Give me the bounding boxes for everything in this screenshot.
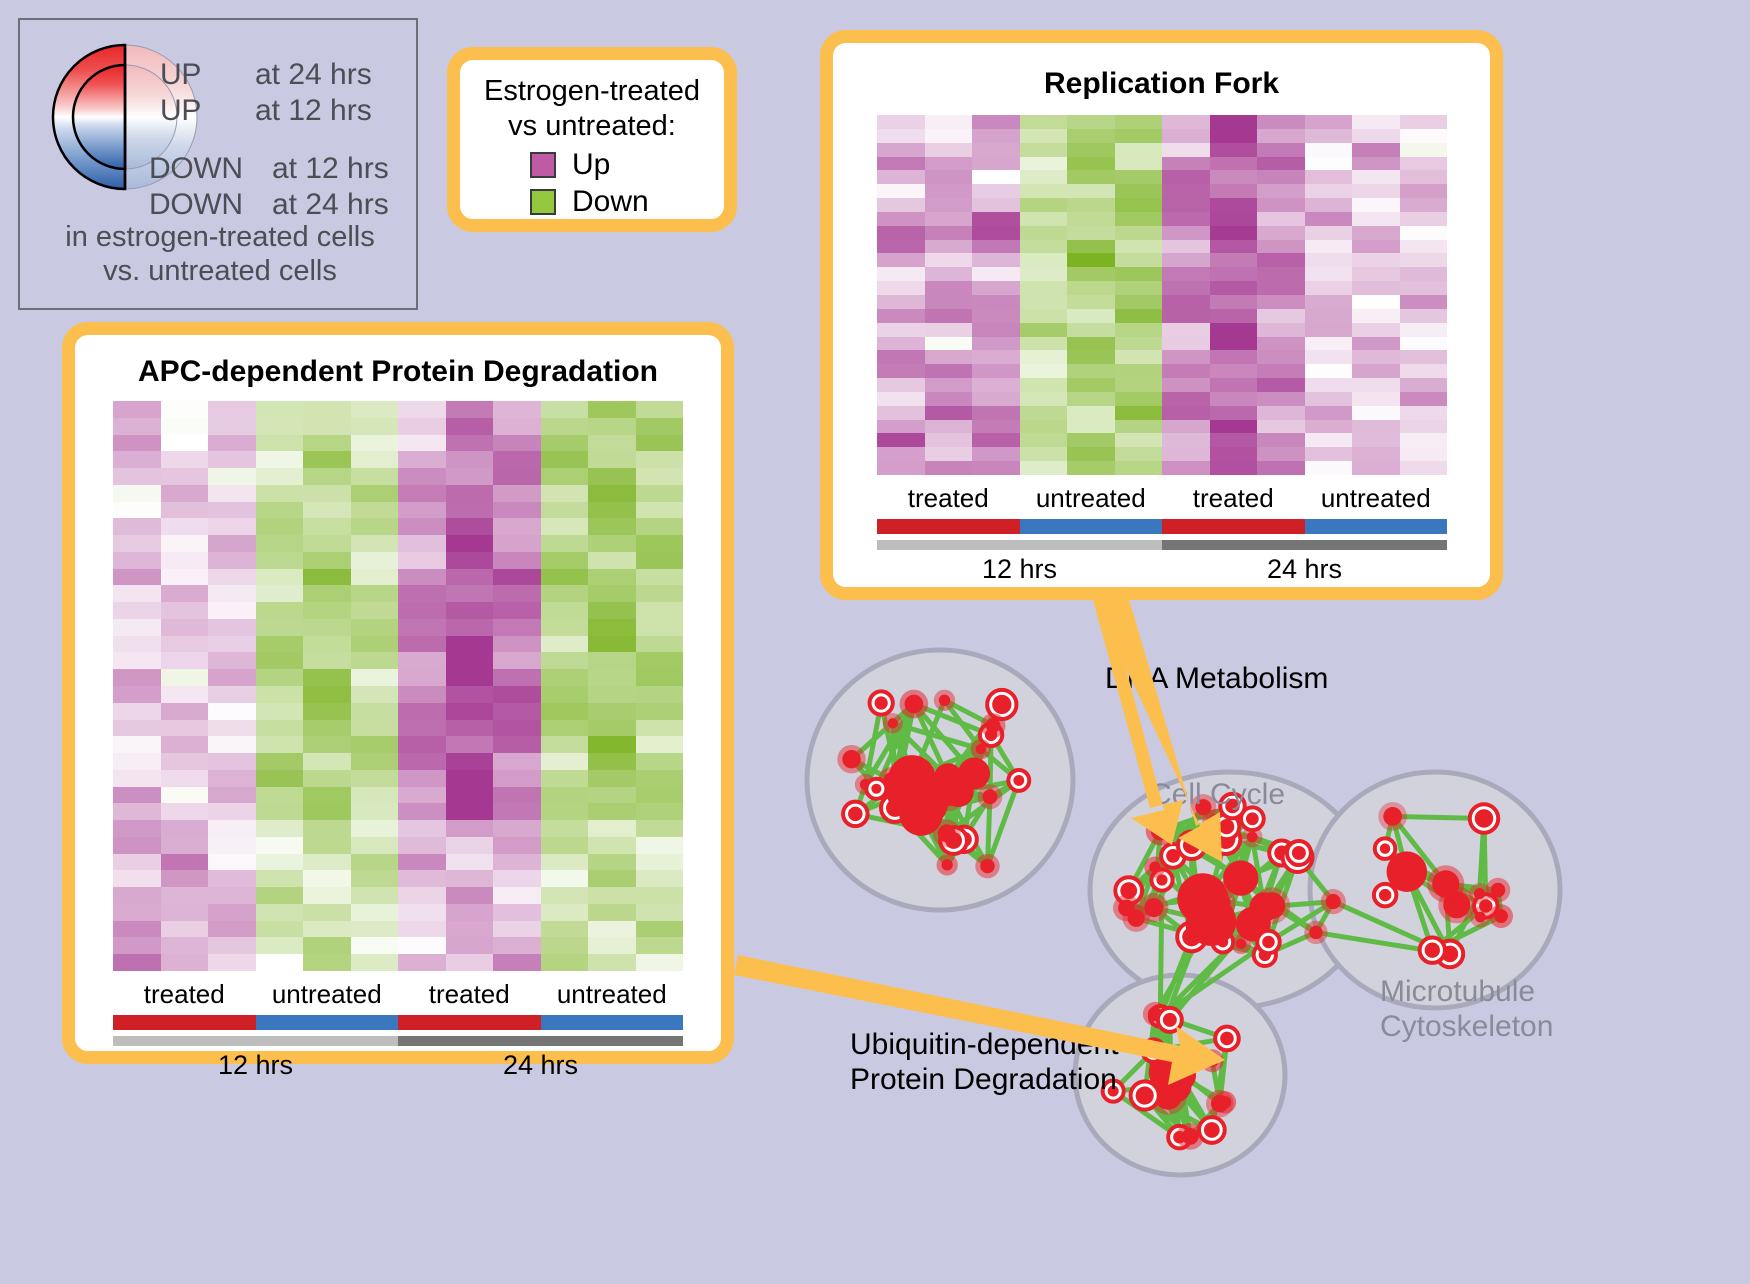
heatmap-cell bbox=[256, 887, 304, 904]
heatmap-cell bbox=[1305, 281, 1353, 295]
heatmap-cell bbox=[113, 787, 161, 804]
heatmap-cell bbox=[398, 787, 446, 804]
heatmap-cell bbox=[636, 401, 684, 418]
network-node[interactable] bbox=[1142, 1039, 1164, 1061]
heatmap-cell bbox=[256, 921, 304, 938]
heatmap-cell bbox=[1257, 253, 1305, 267]
heatmap-cell bbox=[1067, 281, 1115, 295]
network-node[interactable] bbox=[1146, 816, 1175, 845]
network-node[interactable] bbox=[975, 854, 999, 878]
heatmap-cell bbox=[446, 921, 494, 938]
heatmap-cell bbox=[1305, 295, 1353, 309]
heatmap-cell bbox=[303, 736, 351, 753]
network-node-core bbox=[1182, 1128, 1199, 1145]
heatmap-cell bbox=[1305, 420, 1353, 434]
heatmap-cell bbox=[1352, 392, 1400, 406]
heatmap-cell bbox=[1257, 198, 1305, 212]
heatmap-cell bbox=[1305, 350, 1353, 364]
network-diagram: DNA Metabolism Cell Cycle Microtubule Cy… bbox=[780, 600, 1740, 1279]
heatmap-cell bbox=[1210, 295, 1258, 309]
heatmap-cell bbox=[113, 887, 161, 904]
heatmap-cell bbox=[1210, 461, 1258, 475]
network-node-core bbox=[1326, 894, 1341, 909]
heatmap-cell bbox=[541, 753, 589, 770]
heatmap-cell bbox=[1162, 198, 1210, 212]
heatmap-cell bbox=[161, 703, 209, 720]
apc-time-labels: 12 hrs24 hrs bbox=[113, 1050, 683, 1081]
heatmap-cell bbox=[351, 518, 399, 535]
legend-item-down: Down bbox=[530, 185, 649, 219]
network-node-core bbox=[986, 718, 1001, 733]
key-direction-2: DOWN bbox=[149, 152, 243, 186]
heatmap-cell bbox=[113, 569, 161, 586]
network-node[interactable] bbox=[1199, 1117, 1225, 1143]
heatmap-cell bbox=[446, 669, 494, 686]
heatmap-cell bbox=[303, 686, 351, 703]
heatmap-cell bbox=[1305, 267, 1353, 281]
network-node[interactable] bbox=[870, 691, 893, 714]
heatmap-cell bbox=[1020, 170, 1068, 184]
heatmap-cell bbox=[398, 720, 446, 737]
heatmap-cell bbox=[1257, 184, 1305, 198]
key-direction-1: UP bbox=[160, 94, 201, 128]
heatmap-cell bbox=[256, 736, 304, 753]
heatmap-cell bbox=[541, 485, 589, 502]
heatmap-cell bbox=[256, 435, 304, 452]
heatmap-cell bbox=[1257, 392, 1305, 406]
legend-label-up: Up bbox=[572, 148, 610, 182]
heatmap-cell bbox=[1067, 226, 1115, 240]
legend-item-up: Up bbox=[530, 148, 610, 182]
network-node[interactable] bbox=[1304, 921, 1327, 944]
network-node[interactable] bbox=[1231, 934, 1251, 954]
heatmap-cell bbox=[256, 602, 304, 619]
heatmap-cell bbox=[113, 636, 161, 653]
network-node-core bbox=[939, 695, 950, 706]
heatmap-cell bbox=[1305, 392, 1353, 406]
heatmap-cell bbox=[493, 552, 541, 569]
network-node[interactable] bbox=[1178, 832, 1206, 860]
heatmap-cell bbox=[351, 569, 399, 586]
network-node-core bbox=[1147, 1044, 1159, 1056]
heatmap-cell bbox=[351, 602, 399, 619]
network-node[interactable] bbox=[1214, 1091, 1236, 1113]
heatmap-cell bbox=[1067, 406, 1115, 420]
heatmap-cell bbox=[446, 585, 494, 602]
heatmap-cell bbox=[972, 392, 1020, 406]
network-node[interactable] bbox=[1158, 1008, 1182, 1032]
heatmap-cell bbox=[636, 502, 684, 519]
color-key-footer-line1: in estrogen-treated cells bbox=[20, 220, 420, 254]
network-node[interactable] bbox=[843, 802, 868, 827]
heatmap-cell bbox=[161, 921, 209, 938]
heatmap-cell bbox=[877, 184, 925, 198]
heatmap-cell bbox=[972, 337, 1020, 351]
network-node[interactable] bbox=[1113, 895, 1140, 922]
heatmap-cell bbox=[1305, 337, 1353, 351]
heatmap-cell bbox=[1162, 143, 1210, 157]
heatmap-cell bbox=[208, 418, 256, 435]
heatmap-cell bbox=[493, 854, 541, 871]
heatmap-cell bbox=[588, 703, 636, 720]
replication-fork-group-bars bbox=[877, 519, 1447, 534]
heatmap-cell bbox=[493, 937, 541, 954]
heatmap-cell bbox=[1305, 143, 1353, 157]
heatmap-cell bbox=[303, 636, 351, 653]
network-node-core bbox=[1383, 807, 1402, 826]
heatmap-cell bbox=[1257, 281, 1305, 295]
heatmap-cell bbox=[588, 518, 636, 535]
heatmap-cell bbox=[1210, 253, 1258, 267]
heatmap-cell bbox=[351, 535, 399, 552]
heatmap-cell bbox=[925, 295, 973, 309]
heatmap-cell bbox=[636, 854, 684, 871]
heatmap-cell bbox=[1020, 309, 1068, 323]
heatmap-cell bbox=[1067, 267, 1115, 281]
group-bar-treated-0 bbox=[877, 519, 1020, 534]
network-node[interactable] bbox=[1249, 892, 1279, 922]
heatmap-cell bbox=[256, 753, 304, 770]
heatmap-cell bbox=[877, 115, 925, 129]
time-bar-12-hrs bbox=[113, 1036, 398, 1046]
network-node-core bbox=[1475, 912, 1486, 923]
heatmap-cell bbox=[972, 157, 1020, 171]
heatmap-cell bbox=[636, 602, 684, 619]
heatmap-cell bbox=[493, 569, 541, 586]
heatmap-cell bbox=[1210, 447, 1258, 461]
heatmap-cell bbox=[1115, 240, 1163, 254]
network-node[interactable] bbox=[978, 784, 1003, 809]
network-node[interactable] bbox=[1321, 889, 1346, 914]
network-node[interactable] bbox=[1489, 904, 1513, 928]
legend-title: Estrogen-treated vs untreated: bbox=[460, 74, 724, 144]
heatmap-cell bbox=[1067, 337, 1115, 351]
heatmap-cell bbox=[493, 954, 541, 971]
heatmap-cell bbox=[1115, 157, 1163, 171]
network-node-core bbox=[1136, 1086, 1154, 1104]
heatmap-cell bbox=[877, 364, 925, 378]
heatmap-cell bbox=[588, 937, 636, 954]
heatmap-cell bbox=[493, 401, 541, 418]
heatmap-cell bbox=[541, 619, 589, 636]
heatmap-cell bbox=[493, 585, 541, 602]
network-node-core bbox=[1292, 846, 1306, 860]
heatmap-cell bbox=[1400, 433, 1448, 447]
heatmap-cell bbox=[161, 619, 209, 636]
heatmap-cell bbox=[972, 364, 1020, 378]
heatmap-cell bbox=[1162, 337, 1210, 351]
heatmap-cell bbox=[1305, 461, 1353, 475]
heatmap-cell bbox=[1115, 392, 1163, 406]
heatmap-cell bbox=[1162, 309, 1210, 323]
network-node[interactable] bbox=[837, 745, 865, 773]
heatmap-cell bbox=[303, 669, 351, 686]
key-time-3: at 24 hrs bbox=[272, 188, 389, 222]
heatmap-cell bbox=[877, 267, 925, 281]
heatmap-cell bbox=[351, 921, 399, 938]
heatmap-cell bbox=[972, 447, 1020, 461]
network-node[interactable] bbox=[1287, 841, 1311, 865]
heatmap-cell bbox=[1020, 392, 1068, 406]
heatmap-cell bbox=[877, 392, 925, 406]
network-node[interactable] bbox=[933, 819, 961, 847]
legend-title-line2: vs untreated: bbox=[460, 109, 724, 144]
heatmap-cell bbox=[398, 937, 446, 954]
network-node[interactable] bbox=[1387, 851, 1428, 892]
heatmap-cell bbox=[398, 552, 446, 569]
heatmap-cell bbox=[1352, 253, 1400, 267]
heatmap-cell bbox=[1400, 392, 1448, 406]
network-node-core bbox=[1151, 821, 1170, 840]
heatmap-cell bbox=[446, 854, 494, 871]
cluster-label-ubiquitin: Ubiquitin-dependent Protein Degradation bbox=[850, 1028, 1119, 1097]
heatmap-cell bbox=[972, 226, 1020, 240]
heatmap-cell bbox=[208, 954, 256, 971]
heatmap-cell bbox=[636, 552, 684, 569]
heatmap-cell bbox=[493, 803, 541, 820]
heatmap-cell bbox=[588, 954, 636, 971]
heatmap-cell bbox=[877, 337, 925, 351]
heatmap-cell bbox=[493, 787, 541, 804]
heatmap-cell bbox=[1210, 184, 1258, 198]
heatmap-cell bbox=[1115, 378, 1163, 392]
group-label-untreated-1: untreated bbox=[256, 979, 399, 1010]
group-label-treated-2: treated bbox=[398, 979, 541, 1010]
time-label-12-hrs: 12 hrs bbox=[113, 1050, 398, 1081]
heatmap-cell bbox=[588, 904, 636, 921]
heatmap-cell bbox=[351, 870, 399, 887]
color-key-box: UP at 24 hrs UP at 12 hrs DOWN at 12 hrs… bbox=[18, 18, 418, 310]
heatmap-cell bbox=[113, 803, 161, 820]
network-node[interactable] bbox=[934, 690, 955, 711]
heatmap-cell bbox=[1400, 420, 1448, 434]
heatmap-cell bbox=[208, 451, 256, 468]
network-node-core bbox=[1387, 851, 1428, 892]
network-node[interactable] bbox=[1374, 884, 1396, 906]
heatmap-cell bbox=[1210, 226, 1258, 240]
heatmap-cell bbox=[398, 585, 446, 602]
network-node-core bbox=[1118, 900, 1135, 917]
network-node[interactable] bbox=[883, 713, 903, 733]
network-node-core bbox=[1262, 936, 1275, 949]
heatmap-cell bbox=[1162, 281, 1210, 295]
heatmap-cell bbox=[208, 736, 256, 753]
heatmap-cell bbox=[113, 518, 161, 535]
heatmap-cell bbox=[1210, 350, 1258, 364]
heatmap-cell bbox=[398, 887, 446, 904]
heatmap-cell bbox=[303, 787, 351, 804]
heatmap-cell bbox=[303, 770, 351, 787]
heatmap-cell bbox=[588, 753, 636, 770]
key-direction-3: DOWN bbox=[149, 188, 243, 222]
heatmap-cell bbox=[208, 854, 256, 871]
heatmap-cell bbox=[493, 652, 541, 669]
heatmap-cell bbox=[1115, 295, 1163, 309]
group-bar-treated-2 bbox=[1162, 519, 1305, 534]
heatmap-cell bbox=[1020, 157, 1068, 171]
heatmap-cell bbox=[1352, 447, 1400, 461]
heatmap-cell bbox=[1067, 212, 1115, 226]
heatmap-cell bbox=[161, 518, 209, 535]
network-node[interactable] bbox=[886, 765, 938, 817]
heatmap-cell bbox=[541, 803, 589, 820]
heatmap-cell bbox=[1257, 170, 1305, 184]
heatmap-cell bbox=[541, 435, 589, 452]
heatmap-cell bbox=[541, 954, 589, 971]
heatmap-cell bbox=[351, 585, 399, 602]
heatmap-cell bbox=[208, 686, 256, 703]
network-node[interactable] bbox=[1378, 802, 1407, 831]
heatmap-cell bbox=[1020, 129, 1068, 143]
heatmap-cell bbox=[1020, 406, 1068, 420]
replication-fork-heatmap bbox=[877, 115, 1447, 475]
heatmap-cell bbox=[636, 837, 684, 854]
heatmap-cell bbox=[972, 143, 1020, 157]
heatmap-cell bbox=[1210, 129, 1258, 143]
apc-degradation-title: APC-dependent Protein Degradation bbox=[75, 355, 721, 389]
heatmap-cell bbox=[303, 569, 351, 586]
heatmap-cell bbox=[541, 569, 589, 586]
network-node[interactable] bbox=[1187, 897, 1236, 946]
heatmap-cell bbox=[1210, 433, 1258, 447]
heatmap-cell bbox=[972, 323, 1020, 337]
heatmap-cell bbox=[1020, 212, 1068, 226]
heatmap-cell bbox=[256, 636, 304, 653]
heatmap-cell bbox=[161, 887, 209, 904]
group-label-treated-2: treated bbox=[1162, 483, 1305, 514]
heatmap-cell bbox=[161, 904, 209, 921]
network-node[interactable] bbox=[1223, 860, 1258, 895]
heatmap-cell bbox=[161, 686, 209, 703]
heatmap-cell bbox=[1020, 281, 1068, 295]
heatmap-cell bbox=[1210, 309, 1258, 323]
network-node[interactable] bbox=[1201, 1049, 1224, 1072]
network-node[interactable] bbox=[866, 779, 886, 799]
network-node-core bbox=[1219, 1096, 1231, 1108]
network-node[interactable] bbox=[981, 713, 1006, 738]
heatmap-cell bbox=[925, 129, 973, 143]
network-node[interactable] bbox=[1215, 1027, 1239, 1051]
heatmap-cell bbox=[113, 652, 161, 669]
network-node[interactable] bbox=[1257, 931, 1280, 954]
network-node-core bbox=[1013, 775, 1024, 786]
heatmap-cell bbox=[303, 904, 351, 921]
heatmap-cell bbox=[972, 170, 1020, 184]
heatmap-cell bbox=[256, 401, 304, 418]
heatmap-cell bbox=[588, 736, 636, 753]
heatmap-cell bbox=[1115, 337, 1163, 351]
heatmap-cell bbox=[1210, 337, 1258, 351]
network-node[interactable] bbox=[1420, 938, 1445, 963]
heatmap-cell bbox=[588, 451, 636, 468]
heatmap-cell bbox=[1210, 323, 1258, 337]
heatmap-cell bbox=[636, 636, 684, 653]
heatmap-cell bbox=[256, 518, 304, 535]
network-node-core bbox=[980, 859, 994, 873]
heatmap-cell bbox=[636, 468, 684, 485]
heatmap-cell bbox=[1162, 350, 1210, 364]
network-node[interactable] bbox=[900, 690, 929, 719]
network-node[interactable] bbox=[937, 854, 958, 875]
network-node[interactable] bbox=[1144, 857, 1165, 878]
heatmap-cell bbox=[303, 502, 351, 519]
heatmap-cell bbox=[398, 418, 446, 435]
heatmap-cell bbox=[446, 451, 494, 468]
heatmap-cell bbox=[161, 602, 209, 619]
heatmap-cell bbox=[636, 803, 684, 820]
heatmap-cell bbox=[925, 170, 973, 184]
heatmap-cell bbox=[972, 309, 1020, 323]
heatmap-cell bbox=[398, 502, 446, 519]
heatmap-cell bbox=[877, 461, 925, 475]
network-node[interactable] bbox=[935, 782, 964, 811]
heatmap-cell bbox=[256, 619, 304, 636]
network-node-core bbox=[1144, 898, 1163, 917]
network-node[interactable] bbox=[1469, 883, 1490, 904]
heatmap-cell bbox=[588, 485, 636, 502]
network-node[interactable] bbox=[1375, 838, 1396, 859]
heatmap-cell bbox=[1305, 157, 1353, 171]
heatmap-cell bbox=[972, 184, 1020, 198]
heatmap-cell bbox=[303, 870, 351, 887]
heatmap-cell bbox=[877, 129, 925, 143]
apc-time-bars bbox=[113, 1036, 683, 1046]
heatmap-cell bbox=[636, 569, 684, 586]
heatmap-cell bbox=[1162, 212, 1210, 226]
network-node[interactable] bbox=[1470, 804, 1498, 832]
heatmap-cell bbox=[588, 770, 636, 787]
network-node[interactable] bbox=[1427, 865, 1464, 902]
heatmap-cell bbox=[303, 753, 351, 770]
heatmap-cell bbox=[636, 535, 684, 552]
time-label-24-hrs: 24 hrs bbox=[1162, 554, 1447, 585]
heatmap-cell bbox=[303, 820, 351, 837]
heatmap-cell bbox=[351, 770, 399, 787]
network-node-core bbox=[1236, 939, 1246, 949]
network-node-core bbox=[1432, 870, 1459, 897]
network-node[interactable] bbox=[1139, 893, 1168, 922]
heatmap-cell bbox=[1352, 295, 1400, 309]
heatmap-cell bbox=[351, 468, 399, 485]
heatmap-cell bbox=[398, 518, 446, 535]
heatmap-cell bbox=[351, 502, 399, 519]
heatmap-cell bbox=[1257, 461, 1305, 475]
heatmap-cell bbox=[446, 720, 494, 737]
network-node[interactable] bbox=[971, 739, 991, 759]
heatmap-cell bbox=[588, 435, 636, 452]
heatmap-cell bbox=[351, 787, 399, 804]
heatmap-cell bbox=[1067, 309, 1115, 323]
network-node-core bbox=[983, 789, 998, 804]
group-label-untreated-3: untreated bbox=[541, 979, 684, 1010]
heatmap-cell bbox=[161, 870, 209, 887]
heatmap-cell bbox=[925, 433, 973, 447]
heatmap-cell bbox=[1400, 350, 1448, 364]
time-bar-24-hrs bbox=[398, 1036, 683, 1046]
heatmap-cell bbox=[398, 485, 446, 502]
heatmap-cell bbox=[1352, 129, 1400, 143]
network-node-core bbox=[1204, 1122, 1220, 1138]
group-label-treated-0: treated bbox=[113, 979, 256, 1010]
heatmap-cell bbox=[351, 418, 399, 435]
heatmap-cell bbox=[208, 803, 256, 820]
heatmap-cell bbox=[446, 703, 494, 720]
heatmap-cell bbox=[208, 870, 256, 887]
heatmap-cell bbox=[1210, 267, 1258, 281]
network-node[interactable] bbox=[1008, 770, 1029, 791]
heatmap-cell bbox=[493, 703, 541, 720]
network-node[interactable] bbox=[1470, 907, 1491, 928]
